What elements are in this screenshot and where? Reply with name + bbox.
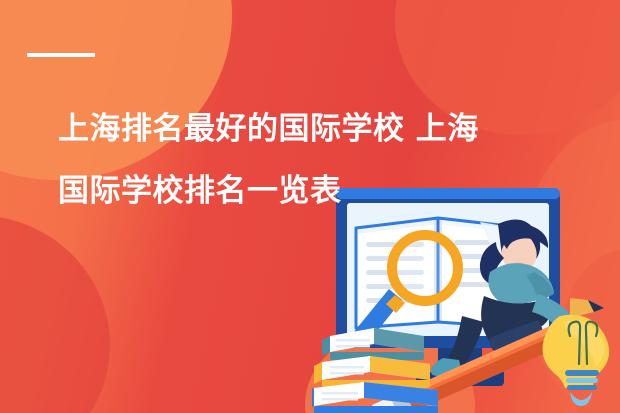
page-title-line-1: 上海排名最好的国际学校 上海: [58, 98, 558, 160]
promo-banner: 上海排名最好的国际学校 上海 国际学校排名一览表: [0, 0, 620, 413]
accent-rule: [27, 53, 95, 57]
page-title-line-2: 国际学校排名一览表: [58, 160, 558, 222]
page-title: 上海排名最好的国际学校 上海 国际学校排名一览表: [58, 98, 558, 222]
lightbulb-icon: [543, 315, 610, 406]
book-stack-icon: [312, 328, 438, 413]
